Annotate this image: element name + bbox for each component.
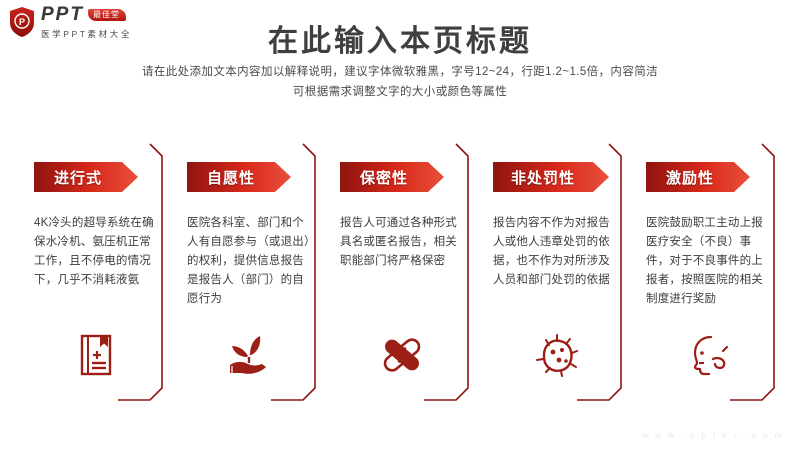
card-2[interactable]: 自愿性 医院各科室、部门和个人有自愿参与（或退出）的权利，提供信息报告是报告人（…: [179, 140, 319, 415]
subtitle-line-2: 可根据需求调整文字的大小或颜色等属性: [0, 82, 800, 102]
subtitle-line-1: 请在此处添加文本内容加以解释说明，建议字体微软雅黑，字号12~24，行距1.2~…: [0, 62, 800, 82]
card-tag-label: 非处罚性: [493, 162, 593, 192]
footer-watermark: w w w . p p t e r . c o m: [642, 430, 784, 440]
hand-sprout-icon: [179, 331, 319, 377]
page-title: 在此输入本页标题: [0, 16, 800, 60]
crossed-bandage-icon: [332, 331, 472, 377]
card-tag-label: 进行式: [34, 162, 122, 192]
card-body-text: 报告内容不作为对报告人或他人违章处罚的依据，也不作为对所涉及人员和部门处罚的依据: [493, 214, 619, 290]
card-3[interactable]: 保密性 报告人可通过各种形式具名或匿名报告，相关职能部门将严格保密: [332, 140, 472, 415]
card-4[interactable]: 非处罚性 报告内容不作为对报告人或他人违章处罚的依据，也不作为对所涉及人员和部门…: [485, 140, 625, 415]
medical-book-icon: [26, 331, 166, 377]
card-tag-label: 保密性: [340, 162, 428, 192]
face-profile-icon: [638, 331, 778, 377]
card-1[interactable]: 进行式 4K冷头的超导系统在确保水冷机、氨压机正常工作，且不停电的情况下，几乎不…: [26, 140, 166, 415]
bacteria-icon: [485, 331, 625, 377]
card-body-text: 医院各科室、部门和个人有自愿参与（或退出）的权利，提供信息报告是报告人（部门）的…: [187, 214, 313, 309]
card-tag-label: 自愿性: [187, 162, 275, 192]
card-tag: 激励性: [646, 162, 750, 192]
card-tag: 非处罚性: [493, 162, 609, 192]
card-body-text: 报告人可通过各种形式具名或匿名报告，相关职能部门将严格保密: [340, 214, 466, 271]
page-subtitle: 请在此处添加文本内容加以解释说明，建议字体微软雅黑，字号12~24，行距1.2~…: [0, 62, 800, 102]
card-tag: 进行式: [34, 162, 138, 192]
card-5[interactable]: 激励性 医院鼓励职工主动上报医疗安全（不良）事件，对于不良事件的上报者，按照医院…: [638, 140, 778, 415]
card-body-text: 医院鼓励职工主动上报医疗安全（不良）事件，对于不良事件的上报者，按照医院的相关制…: [646, 214, 772, 309]
card-tag: 保密性: [340, 162, 444, 192]
card-row: 进行式 4K冷头的超导系统在确保水冷机、氨压机正常工作，且不停电的情况下，几乎不…: [26, 140, 778, 415]
card-body-text: 4K冷头的超导系统在确保水冷机、氨压机正常工作，且不停电的情况下，几乎不消耗液氨: [34, 214, 160, 290]
card-tag: 自愿性: [187, 162, 291, 192]
card-tag-label: 激励性: [646, 162, 734, 192]
